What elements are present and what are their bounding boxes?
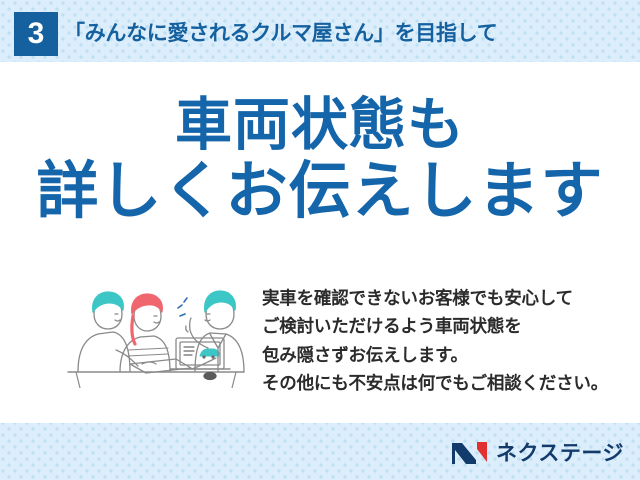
content-panel: 車両状態も 詳しくお伝えします: [0, 62, 640, 423]
headline: 車両状態も 詳しくお伝えします: [0, 95, 640, 225]
nextage-n-mark-icon: [451, 440, 489, 466]
body-copy: 実車を確認できないお客様でも安心して ご検討いただけるよう車両状態を 包み隠さず…: [262, 284, 632, 397]
poster-root: 3 「みんなに愛されるクルマ屋さん」を目指して 車両状態も 詳しくお伝えします: [0, 0, 640, 480]
headline-line-2: 詳しくお伝えします: [0, 159, 640, 225]
consultation-illustration-svg: [58, 276, 254, 388]
headline-line-1: 車両状態も: [0, 95, 640, 155]
consultation-illustration: [58, 276, 254, 388]
section-number-badge: 3: [14, 12, 58, 56]
body-copy-line-4: その他にも不安点は何でもご相談ください。: [262, 369, 632, 397]
body-copy-line-1: 実車を確認できないお客様でも安心して: [262, 284, 632, 312]
header: 3 「みんなに愛されるクルマ屋さん」を目指して: [0, 0, 640, 62]
body-copy-line-3: 包み隠さずお伝えします。: [262, 341, 632, 369]
body-copy-line-2: ご検討いただけるよう車両状態を: [262, 312, 632, 340]
brand-logo: ネクステージ: [451, 438, 624, 468]
brand-logo-text: ネクステージ: [496, 443, 624, 464]
header-title: 「みんなに愛されるクルマ屋さん」を目指して: [64, 16, 497, 52]
